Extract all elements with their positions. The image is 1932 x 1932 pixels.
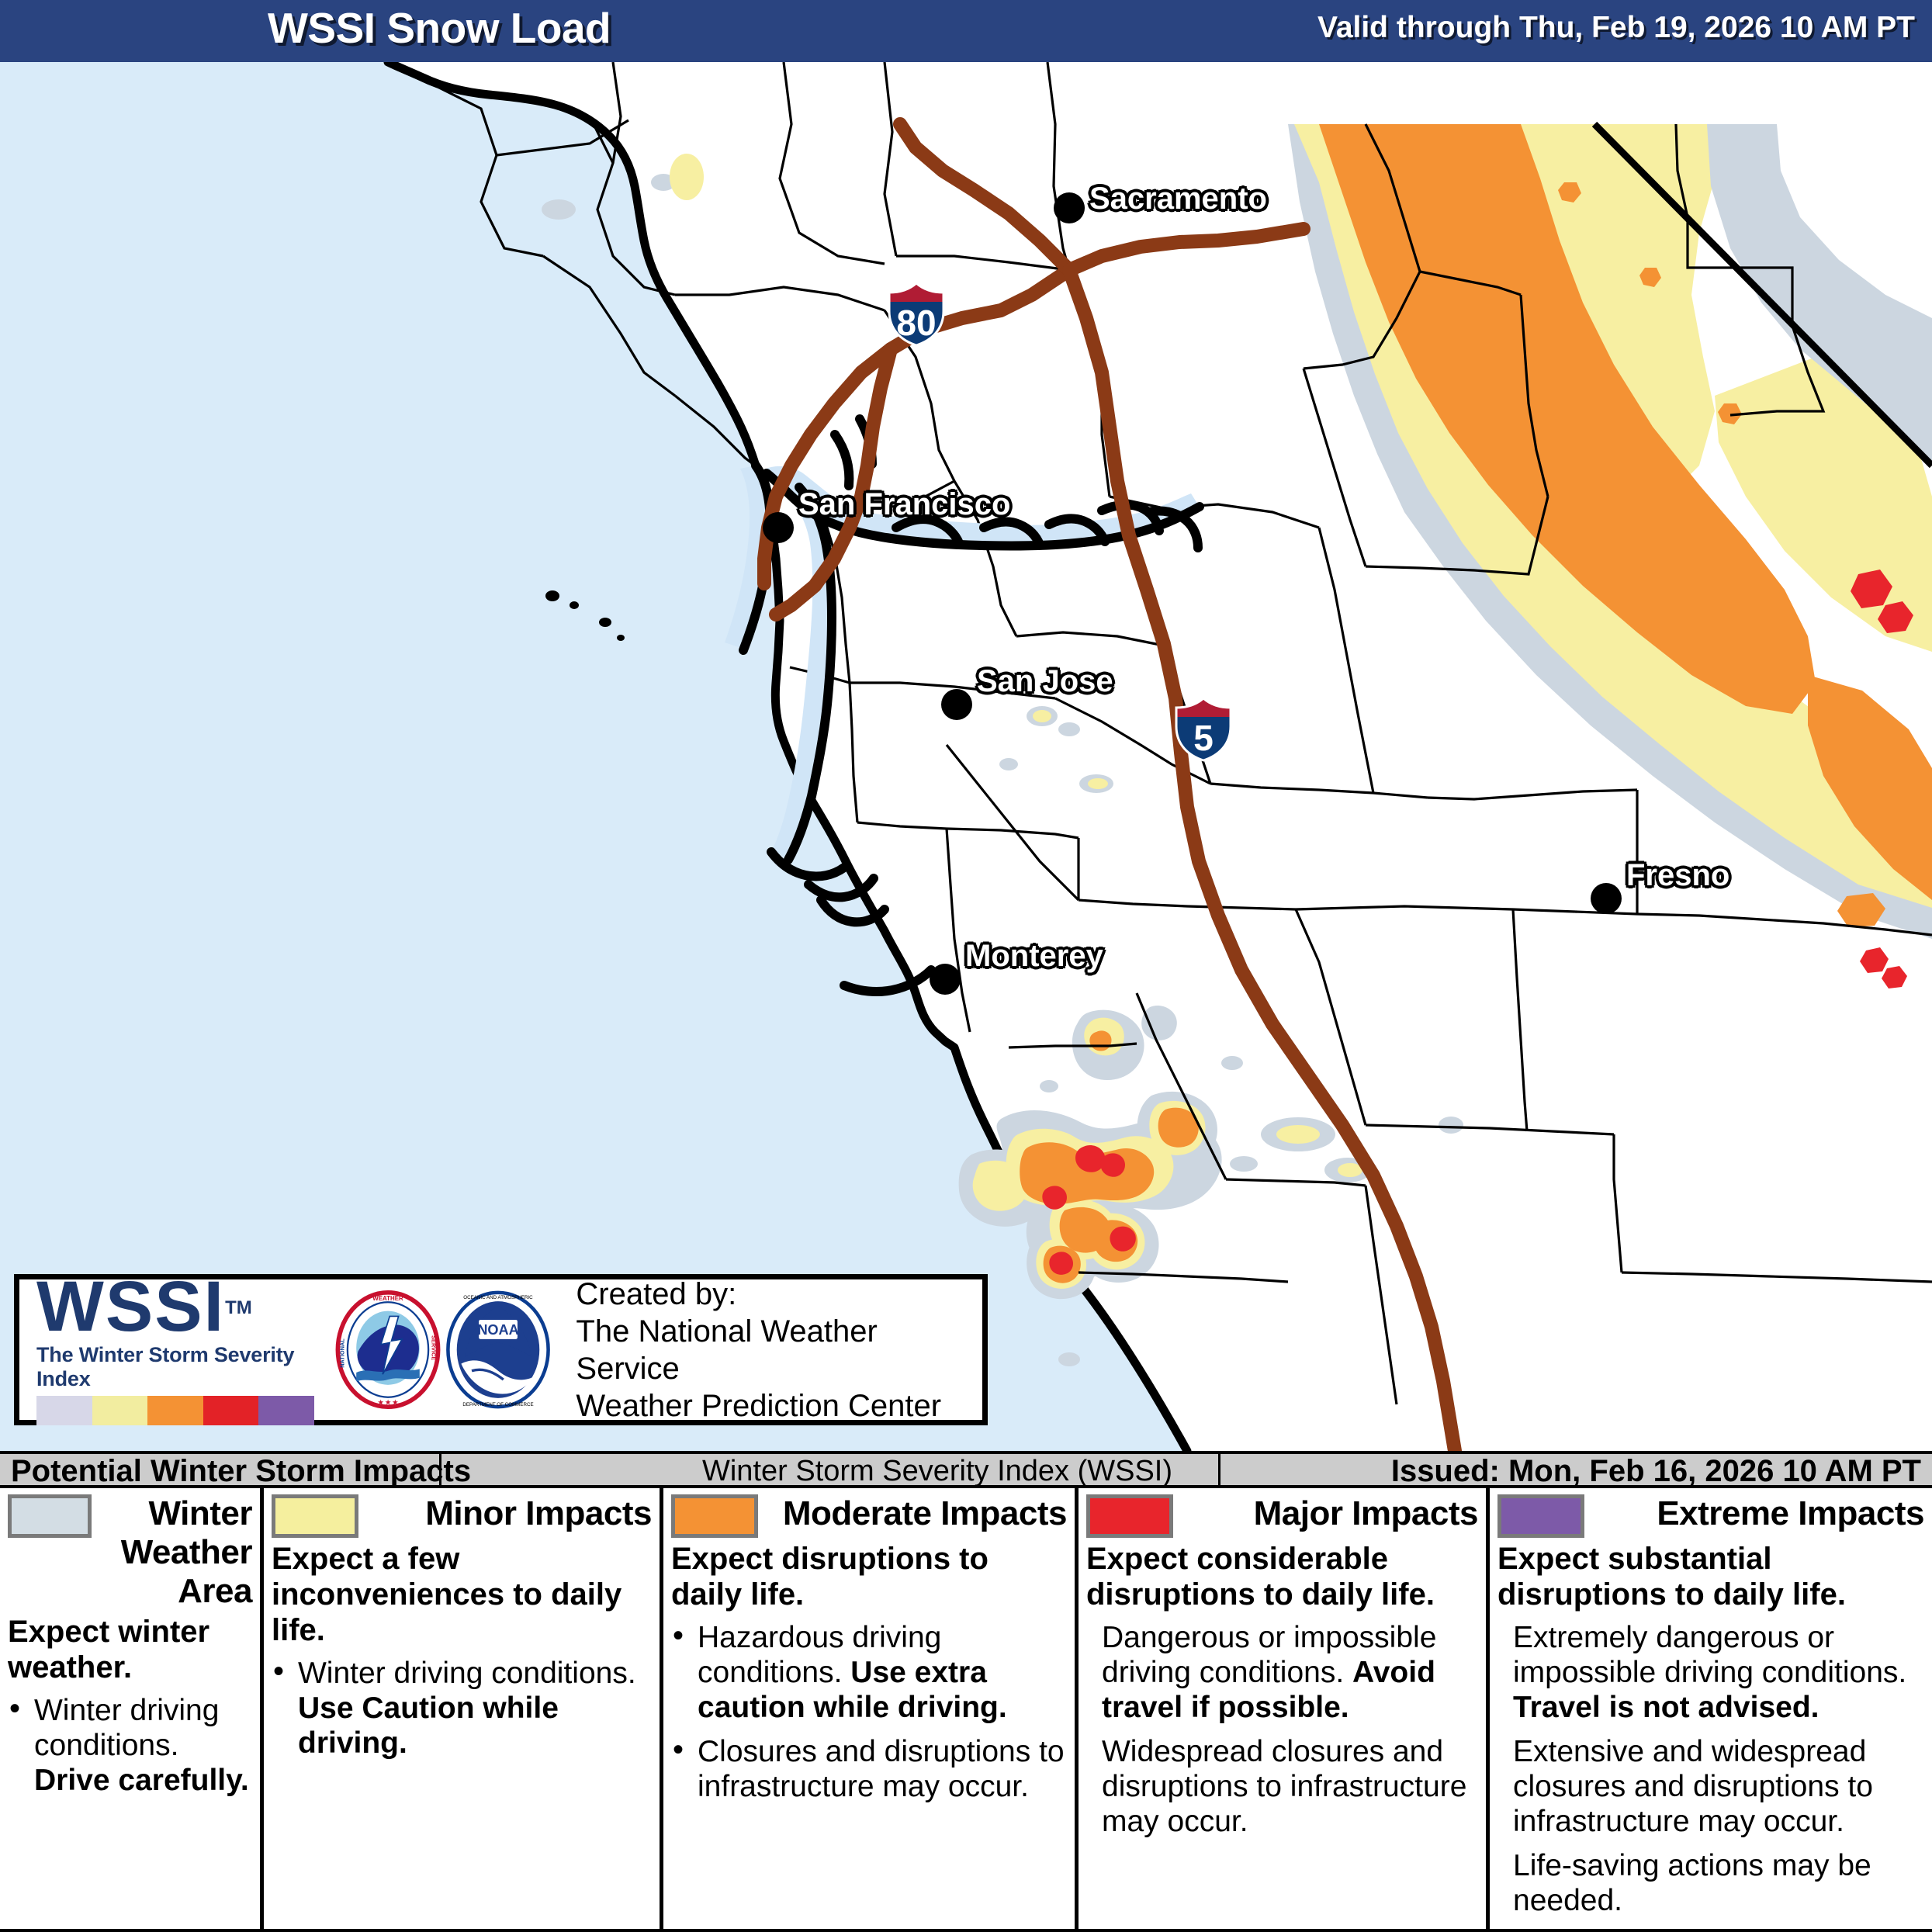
valid-through-label: Valid through Thu, Feb 19, 2026 10 AM PT [1317,11,1915,45]
page-title: WSSI Snow Load [268,3,611,53]
legend-bullets: Hazardous driving conditions. Use extra … [671,1620,1067,1804]
city-dot [941,689,972,720]
legend-bullet: Closures and disruptions to infrastructu… [671,1734,1067,1804]
legend-swatch [8,1494,92,1538]
legend-bullet: Winter driving conditions. Drive careful… [8,1693,252,1798]
wssi-color-scale [36,1396,314,1425]
legend-summary: Expect disruptions to daily life. [671,1541,1067,1612]
page-header: WSSI Snow Load Valid through Thu, Feb 19… [0,0,1932,62]
legend-title: Moderate Impacts [766,1494,1067,1533]
noaa-seal: NOAA OCEANIC AND ATMOSPHERIC DEPARTMENT … [445,1290,551,1410]
legend-bullet: Winter driving conditions. Use Caution w… [272,1656,652,1761]
created-by-line-3: Weather Prediction Center [576,1387,982,1425]
city-label: Monterey [965,939,1103,974]
potential-impacts-label: Potential Winter Storm Impacts [11,1454,471,1489]
legend-title: Major Impacts [1181,1494,1478,1533]
city-label: San Jose [977,664,1113,699]
legend-swatch [1497,1494,1584,1538]
scale-swatch-moderate [147,1396,203,1425]
svg-text:DEPARTMENT OF COMMERCE: DEPARTMENT OF COMMERCE [463,1402,534,1407]
legend-column-moderate-impacts[interactable]: Moderate Impacts Expect disruptions to d… [663,1488,1079,1929]
status-bar-divider-1 [439,1454,441,1485]
legend-header: Minor Impacts [272,1494,652,1538]
legend-header: Winter Weather Area [8,1494,252,1611]
wssi-map[interactable]: Sacramento San Francisco San Jose Fresno… [0,62,1932,1451]
legend-title: Minor Impacts [366,1494,652,1533]
legend-summary: Expect considerable disruptions to daily… [1086,1541,1478,1612]
interstate-shield-5[interactable]: 5 [1170,697,1237,762]
city-dot [763,512,794,543]
legend-column-extreme-impacts[interactable]: Extreme Impacts Expect substantial disru… [1490,1488,1932,1929]
legend-column-major-impacts[interactable]: Major Impacts Expect considerable disrup… [1079,1488,1490,1929]
created-by-line-2: The National Weather Service [576,1313,982,1387]
legend-bullet: Widespread closures and disruptions to i… [1086,1734,1478,1839]
legend-swatch [671,1494,758,1538]
legend-summary: Expect substantial disruptions to daily … [1497,1541,1924,1612]
interstate-number: 5 [1170,718,1237,757]
legend-header: Moderate Impacts [671,1494,1067,1538]
city-label: Sacramento [1089,182,1267,216]
wssi-logo: WSSITM The Winter Storm Severity Index [19,1275,324,1425]
legend-bullets: Winter driving conditions. Use Caution w… [272,1656,652,1761]
legend-bullet: Extremely dangerous or impossible drivin… [1497,1620,1924,1725]
map-graphics [0,62,1932,1451]
svg-text:★ ★ ★: ★ ★ ★ [379,1399,400,1406]
legend-column-winter-weather-area[interactable]: Winter Weather Area Expect winter weathe… [0,1488,264,1929]
city-dot [1591,883,1622,914]
city-dot [1054,192,1085,223]
legend-swatch [272,1494,358,1538]
wssi-subtitle-label: Winter Storm Severity Index (WSSI) [702,1455,1172,1488]
legend-title: Extreme Impacts [1592,1494,1924,1533]
wssi-wordmark: WSSITM [36,1275,324,1340]
legend-bullets: Dangerous or impossible driving conditio… [1086,1620,1478,1839]
legend-swatch [1086,1494,1173,1538]
city-dot [930,964,961,995]
svg-text:SERVICE: SERVICE [431,1335,438,1360]
legend-header: Extreme Impacts [1497,1494,1924,1538]
status-bar: Potential Winter Storm Impacts Winter St… [0,1451,1932,1488]
legend-bullet: Hazardous driving conditions. Use extra … [671,1620,1067,1725]
city-label: San Francisco [798,487,1010,522]
interstate-shield-80[interactable]: 80 [883,282,950,347]
svg-text:NOAA: NOAA [478,1322,519,1338]
wssi-snow-load-page: WSSI Snow Load Valid through Thu, Feb 19… [0,0,1932,1932]
scale-swatch-minor [92,1396,148,1425]
scale-swatch-extreme [258,1396,314,1425]
created-by-line-1: Created by: [576,1276,982,1313]
created-by-block: Created by: The National Weather Service… [562,1276,982,1425]
scale-swatch-winter-weather [36,1396,92,1425]
svg-text:OCEANIC AND ATMOSPHERIC: OCEANIC AND ATMOSPHERIC [464,1295,534,1300]
legend-bullet: Dangerous or impossible driving conditio… [1086,1620,1478,1725]
wssi-tagline: The Winter Storm Severity Index [36,1343,324,1391]
svg-text:NATIONAL: NATIONAL [339,1338,346,1368]
trademark-symbol: TM [225,1297,252,1318]
scale-swatch-major [203,1396,259,1425]
agency-seals: WEATHER ★ ★ ★ NATIONAL SERVICE NOAA OCEA… [324,1290,562,1410]
national-weather-service-seal: WEATHER ★ ★ ★ NATIONAL SERVICE [335,1290,441,1410]
city-label: Fresno [1626,858,1729,893]
legend-summary: Expect a few inconveniences to daily lif… [272,1541,652,1648]
legend-bullet: Extensive and widespread closures and di… [1497,1734,1924,1839]
legend-column-minor-impacts[interactable]: Minor Impacts Expect a few inconvenience… [264,1488,663,1929]
legend-summary: Expect winter weather. [8,1614,252,1685]
legend-bullets: Extremely dangerous or impossible drivin… [1497,1620,1924,1918]
legend-bullets: Winter driving conditions. Drive careful… [8,1693,252,1798]
issued-label: Issued: Mon, Feb 16, 2026 10 AM PT [1391,1454,1921,1489]
interstate-number: 80 [883,303,950,342]
wssi-logo-box: WSSITM The Winter Storm Severity Index W… [14,1274,988,1425]
legend-bullet: Life-saving actions may be needed. [1497,1848,1924,1918]
status-bar-divider-2 [1218,1454,1220,1485]
impact-legend: Winter Weather Area Expect winter weathe… [0,1488,1932,1932]
svg-text:WEATHER: WEATHER [373,1295,404,1302]
legend-header: Major Impacts [1086,1494,1478,1538]
legend-title: Winter Weather Area [99,1494,252,1611]
